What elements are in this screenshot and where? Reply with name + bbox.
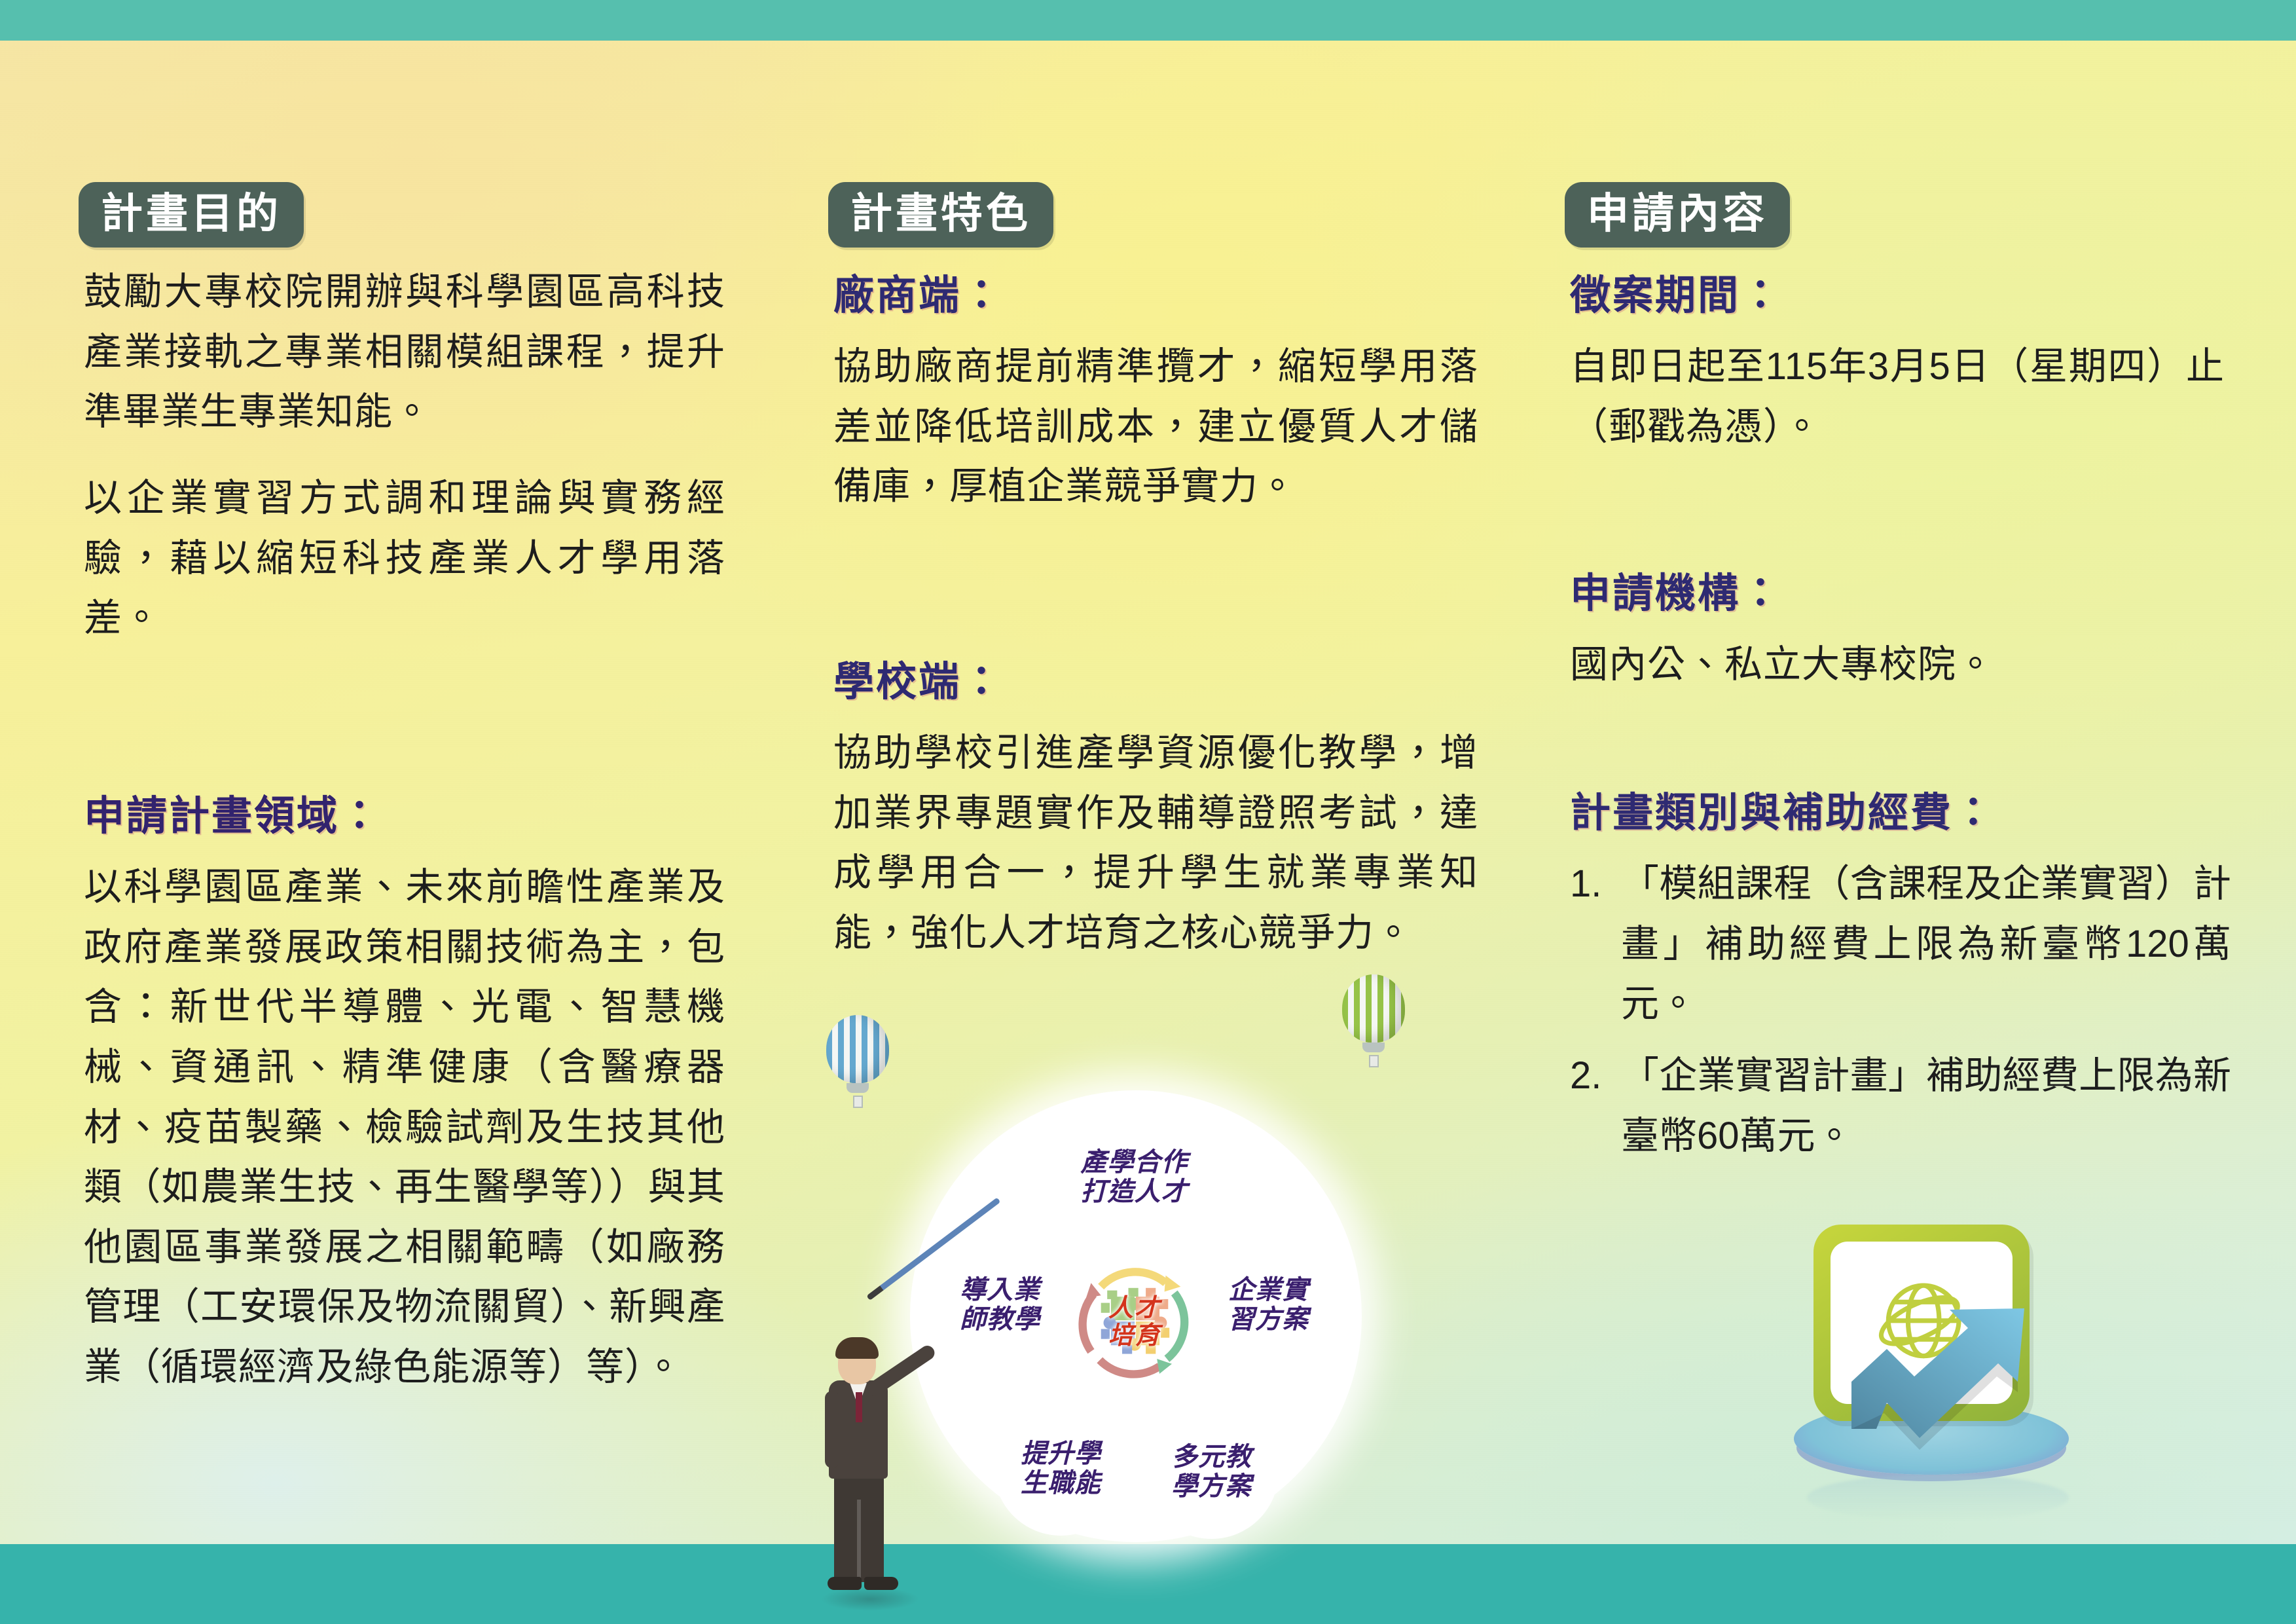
figure-shoe-left: [828, 1577, 862, 1590]
figure-hair: [835, 1337, 879, 1359]
budget-list-item: 1. 「模組課程（含課程及企業實習）計畫」補助經費上限為新臺幣120萬元。: [1570, 854, 2231, 1034]
application-badge-row: 申請內容: [1565, 182, 1790, 248]
diagram-bubble-industry-academia: 產學合作 打造人才: [1067, 1110, 1201, 1244]
bubble-line-1: 提升學: [1021, 1439, 1101, 1468]
presenter-figure-icon: [805, 1336, 936, 1611]
talent-cultivation-diagram: 產學合作 打造人才 導入業 師教學 企業實 習方案 提升學 生職能 多元教: [812, 969, 1506, 1624]
diagram-bubble-student-skills: 提升學 生職能: [994, 1401, 1128, 1536]
figure-arm-left: [825, 1391, 839, 1468]
budget-list: 1. 「模組課程（含課程及企業實習）計畫」補助經費上限為新臺幣120萬元。 2.…: [1570, 854, 2231, 1166]
diagram-bubble-internship-plan: 企業實 習方案: [1201, 1238, 1336, 1372]
features-badge-row: 計畫特色: [828, 182, 1053, 248]
school-text: 協助學校引進產學資源優化教學，增加業界專題實作及輔導證照考試，達成學用合一，提升…: [833, 723, 1478, 963]
school-heading: 學校端：: [833, 648, 1478, 707]
bubble-line-1: 產學合作: [1081, 1148, 1188, 1177]
hot-air-balloon-icon: [826, 1015, 889, 1108]
section-badge-features: 計畫特色: [828, 182, 1053, 248]
organisation-heading: 申請機構：: [1570, 560, 2225, 619]
budget-item-number: 1.: [1570, 854, 1621, 1034]
brochure-page: 計畫目的 鼓勵大專校院開辦與科學園區高科技產業接軌之專業相關模組課程，提升準畢業…: [0, 0, 2296, 1624]
balloon-canopy: [1342, 974, 1405, 1043]
budget-item-number: 2.: [1570, 1046, 1621, 1166]
diagram-core-label: 人才 培育: [1072, 1295, 1197, 1350]
bubble-line-2: 學方案: [1171, 1472, 1252, 1501]
core-label-line-2: 培育: [1108, 1322, 1161, 1350]
balloon-cup: [847, 1083, 869, 1093]
bubble-line-2: 打造人才: [1081, 1177, 1188, 1206]
bubble-line-1: 導入業: [960, 1276, 1040, 1304]
purpose-paragraph-1: 鼓勵大專校院開辦與科學園區高科技產業接軌之專業相關模組課程，提升準畢業生專業知能…: [84, 262, 725, 442]
bubble-line-1: 企業實: [1228, 1276, 1309, 1304]
balloon-cup: [1362, 1043, 1385, 1052]
monitor-reflection: [1807, 1475, 2069, 1521]
figure-shoe-right: [864, 1577, 898, 1590]
vendor-text: 協助廠商提前精準攬才，縮短學用落差並降低培訓成本，建立優質人才儲備庫，厚植企業競…: [833, 337, 1478, 517]
budget-item-text: 「模組課程（含課程及企業實習）計畫」補助經費上限為新臺幣120萬元。: [1621, 854, 2231, 1034]
budget-list-item: 2. 「企業實習計畫」補助經費上限為新臺幣60萬元。: [1570, 1046, 2231, 1166]
bubble-line-2: 生職能: [1021, 1469, 1101, 1498]
field-heading: 申請計畫領域：: [84, 783, 725, 841]
growth-arrow-icon: [1846, 1303, 2036, 1454]
balloon-basket: [1369, 1055, 1379, 1067]
budget-block: 計畫類別與補助經費： 1. 「模組課程（含課程及企業實習）計畫」補助經費上限為新…: [1570, 779, 2231, 1177]
budget-item-text: 「企業實習計畫」補助經費上限為新臺幣60萬元。: [1621, 1046, 2231, 1166]
organisation-block: 申請機構： 國內公、私立大專校院。: [1570, 560, 2225, 695]
diagram-core-gears: 人才 培育: [1072, 1261, 1197, 1385]
balloon-basket: [853, 1096, 863, 1108]
top-band: [0, 0, 2296, 41]
organisation-text: 國內公、私立大專校院。: [1570, 635, 2225, 695]
purpose-paragraphs: 鼓勵大專校院開辦與科學園區高科技產業接軌之專業相關模組課程，提升準畢業生專業知能…: [84, 262, 725, 674]
diagram-bubble-industry-mentor: 導入業 師教學: [933, 1238, 1067, 1372]
core-label-line-1: 人才: [1108, 1295, 1161, 1322]
vendor-heading: 廠商端：: [833, 262, 1478, 321]
period-text: 自即日起至115年3月5日（星期四）止（郵戳為憑）。: [1570, 337, 2225, 456]
feature-item-school: 學校端： 協助學校引進產學資源優化教學，增加業界專題實作及輔導證照考試，達成學用…: [833, 648, 1478, 963]
budget-heading: 計畫類別與補助經費：: [1570, 779, 2231, 838]
figure-shadow: [821, 1587, 919, 1611]
feature-item-vendor: 廠商端： 協助廠商提前精準攬才，縮短學用落差並降低培訓成本，建立優質人才儲備庫，…: [833, 262, 1478, 517]
bubble-line-2: 習方案: [1228, 1305, 1309, 1334]
hot-air-balloon-icon: [1342, 974, 1405, 1067]
purpose-badge-row: 計畫目的: [79, 182, 304, 248]
bubble-line-2: 師教學: [960, 1305, 1040, 1334]
diagram-bubble-diverse-teaching: 多元教 學方案: [1144, 1405, 1279, 1539]
period-heading: 徵案期間：: [1570, 262, 2225, 321]
balloon-canopy: [826, 1015, 889, 1083]
purpose-field-block: 申請計畫領域： 以科學園區產業、未來前瞻性產業及政府產業發展政策相關技術為主，包…: [84, 783, 725, 1397]
globe-monitor-growth-icon: [1794, 1218, 2160, 1559]
purpose-paragraph-2: 以企業實習方式調和理論與實務經驗，藉以縮短科技產業人才學用落差。: [84, 468, 725, 648]
field-text: 以科學園區產業、未來前瞻性產業及政府產業發展政策相關技術為主，包含：新世代半導體…: [84, 857, 725, 1397]
figure-tie: [856, 1392, 862, 1422]
period-block: 徵案期間： 自即日起至115年3月5日（星期四）止（郵戳為憑）。: [1570, 262, 2225, 456]
figure-leg-split: [857, 1500, 861, 1582]
section-badge-purpose: 計畫目的: [79, 182, 304, 248]
section-badge-application: 申請內容: [1565, 182, 1790, 248]
bubble-line-1: 多元教: [1171, 1443, 1252, 1471]
